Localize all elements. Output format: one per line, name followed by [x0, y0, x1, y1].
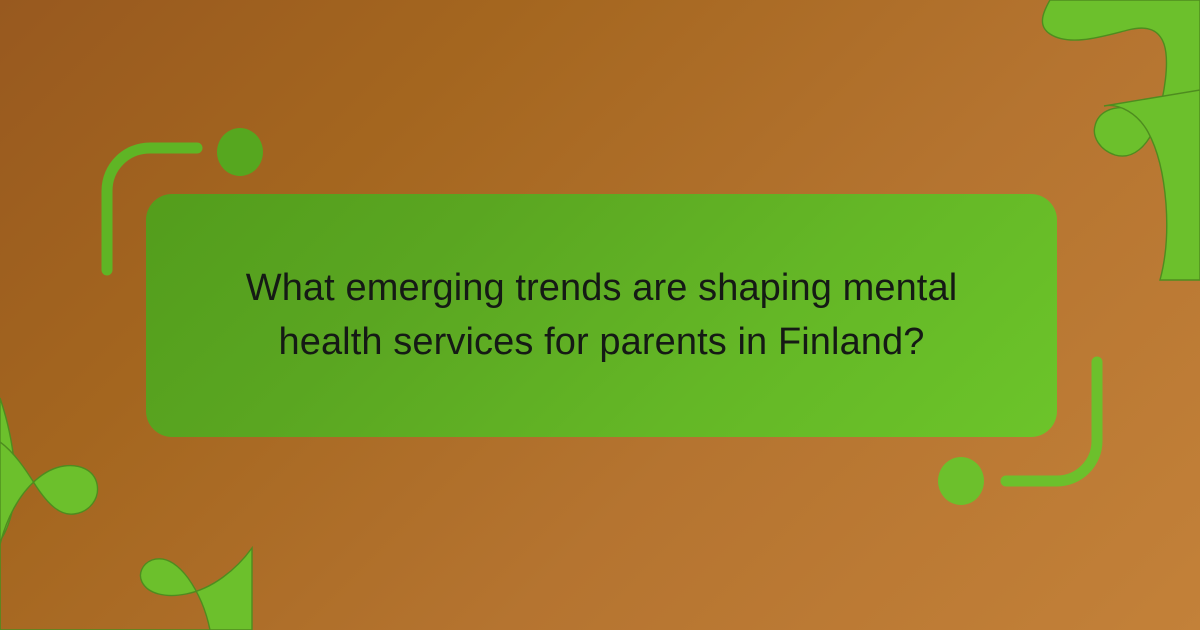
question-text: What emerging trends are shaping mental …	[212, 262, 992, 370]
question-card-graphic: What emerging trends are shaping mental …	[0, 0, 1200, 630]
top-left-dot-icon	[217, 128, 263, 176]
bottom-right-dot-icon	[938, 457, 984, 505]
question-card: What emerging trends are shaping mental …	[146, 194, 1057, 437]
